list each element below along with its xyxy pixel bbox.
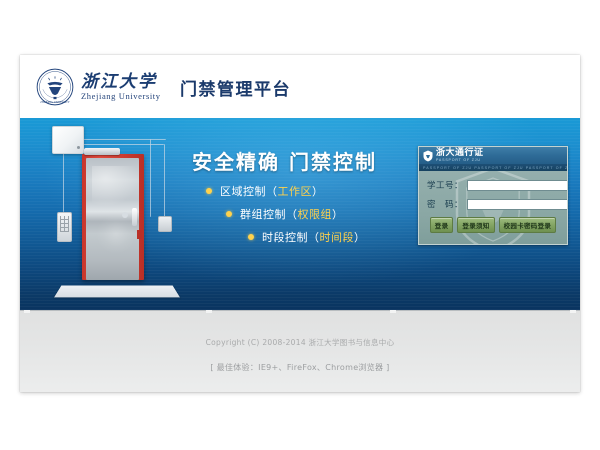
login-button[interactable]: 登录 — [430, 217, 454, 233]
page-title: 门禁管理平台 — [180, 75, 291, 100]
userid-label: 学工号： — [427, 179, 463, 191]
bullet-dot-icon — [248, 234, 254, 240]
site-footer: Copyright (C) 2008-2014 浙江大学图书与信息中心 [ 最佳… — [20, 310, 580, 392]
banner-headline: 安全精确 门禁控制 — [192, 146, 377, 175]
bullet-label: 时段控制（时间段） — [262, 229, 366, 245]
list-item: 区域控制（工作区） — [206, 183, 421, 199]
list-item: 时段控制（时间段） — [206, 229, 421, 245]
page-root: ZHEJIANG UNIVERSITY 浙江大学 Zhejiang Univer… — [0, 0, 600, 450]
bullet-label: 区域控制（工作区） — [220, 183, 324, 199]
login-button-row: 登录 登录须知 校园卡密码登录 — [427, 217, 559, 233]
logo-name-cn: 浙江大学 — [81, 73, 161, 91]
student-staff-id-input[interactable] — [467, 180, 568, 191]
list-item: 群组控制（权限组） — [206, 206, 421, 222]
wire-icon — [63, 152, 65, 212]
site-header: ZHEJIANG UNIVERSITY 浙江大学 Zhejiang Univer… — [20, 55, 580, 119]
form-row-userid: 学工号： — [427, 179, 559, 191]
keypad-reader-icon — [57, 212, 72, 242]
wire-icon — [164, 144, 166, 217]
bullet-dot-icon — [206, 188, 212, 194]
copyright-text: Copyright (C) 2008-2014 浙江大学图书与信息中心 — [20, 337, 580, 348]
keypad-grid — [60, 216, 69, 232]
door-knob-icon — [122, 212, 128, 218]
footer-nub — [206, 310, 212, 313]
footer-nubs — [20, 311, 580, 314]
access-control-door-illustration — [38, 120, 188, 310]
login-panel-title-words: 浙大通行证 PASSPORT OF ZJU — [436, 149, 484, 163]
browser-recommendation-text: [ 最佳体验：IE9+、FireFox、Chrome浏览器 ] — [20, 362, 580, 373]
login-panel-strip: PASSPORT OF ZJU PASSPORT OF ZJU PASSPORT… — [419, 164, 567, 171]
door-handle-icon — [132, 208, 137, 226]
card-reader-icon — [158, 216, 172, 232]
footer-nub — [570, 310, 576, 313]
logo-name-en: Zhejiang University — [81, 91, 161, 102]
door-swirl — [96, 214, 136, 254]
door-closer-icon — [84, 148, 120, 155]
login-panel-title: 浙大通行证 — [436, 149, 484, 158]
wire-icon — [82, 139, 166, 141]
wire-icon — [150, 139, 152, 217]
svg-text:ZHEJIANG UNIVERSITY: ZHEJIANG UNIVERSITY — [40, 101, 70, 104]
logo-wordmark: 浙江大学 Zhejiang University — [81, 73, 161, 102]
feature-bullet-list: 区域控制（工作区） 群组控制（权限组） 时段控制（时间段） — [206, 183, 421, 252]
footer-nub — [24, 310, 30, 313]
bullet-label: 群组控制（权限组） — [240, 206, 344, 222]
login-panel: 浙大通行证 PASSPORT OF ZJU PASSPORT OF ZJU PA… — [418, 146, 568, 245]
campus-card-login-button[interactable]: 校园卡密码登录 — [499, 217, 557, 233]
login-panel-subtitle: PASSPORT OF ZJU — [436, 159, 484, 163]
controller-led-icon — [77, 146, 80, 149]
login-notice-button[interactable]: 登录须知 — [457, 217, 494, 233]
door-glint — [92, 166, 138, 206]
site-window: ZHEJIANG UNIVERSITY 浙江大学 Zhejiang Univer… — [20, 55, 580, 392]
door-latch-icon — [137, 230, 142, 239]
university-logo[interactable]: ZHEJIANG UNIVERSITY 浙江大学 Zhejiang Univer… — [36, 68, 161, 106]
password-label: 密 码： — [427, 198, 463, 210]
hero-banner: 安全精确 门禁控制 区域控制（工作区） 群组控制（权限组） 时段控制（时间段） — [20, 118, 580, 310]
login-panel-titlebar: 浙大通行证 PASSPORT OF ZJU — [419, 147, 567, 164]
password-input[interactable] — [467, 199, 568, 210]
floor-plate — [54, 285, 180, 297]
form-row-password: 密 码： — [427, 198, 559, 210]
zju-seal-icon: ZHEJIANG UNIVERSITY — [36, 68, 74, 106]
bullet-dot-icon — [226, 211, 232, 217]
controller-box-icon — [52, 126, 84, 154]
login-form: 学工号： 密 码： 登录 登录须知 校园卡密码登录 — [419, 171, 567, 233]
strip-text: PASSPORT OF ZJU PASSPORT OF ZJU PASSPORT… — [419, 166, 567, 170]
shield-icon — [423, 150, 433, 162]
footer-nub — [390, 310, 396, 313]
